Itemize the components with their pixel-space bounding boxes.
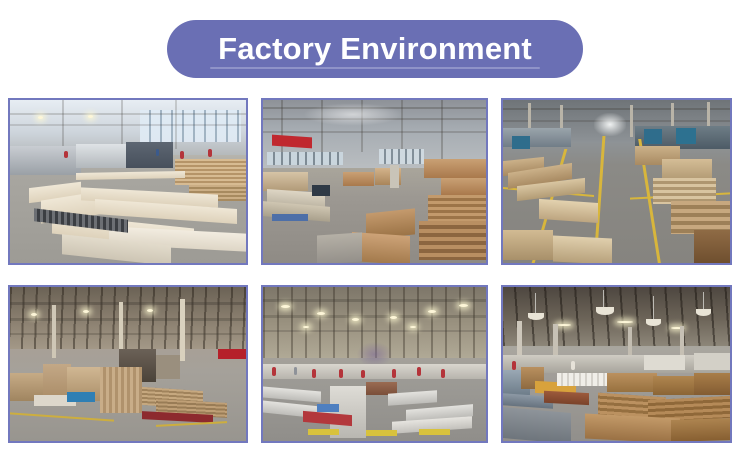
machine-unit bbox=[512, 136, 530, 149]
wood-panel-stack bbox=[441, 178, 486, 194]
pendant-lamp bbox=[696, 309, 711, 316]
far-doorway bbox=[594, 113, 626, 136]
page-title: Factory Environment bbox=[218, 33, 532, 64]
far-windows bbox=[267, 152, 343, 165]
bench-end-cap bbox=[366, 430, 397, 436]
grey-panel-stack bbox=[503, 407, 571, 441]
worker bbox=[512, 361, 516, 370]
roof-column bbox=[281, 100, 283, 159]
machine-unit bbox=[126, 142, 173, 168]
white-bundles bbox=[557, 373, 607, 385]
bench-end-cap bbox=[419, 429, 450, 435]
floor-debris bbox=[317, 232, 362, 263]
support-column bbox=[52, 305, 56, 357]
worker bbox=[156, 149, 159, 156]
machine-unit bbox=[694, 353, 730, 370]
wood-panel-stack bbox=[428, 195, 486, 221]
title-banner: Factory Environment bbox=[167, 20, 583, 78]
machine-unit bbox=[644, 355, 685, 370]
strip-light bbox=[317, 312, 325, 315]
worker bbox=[64, 151, 68, 158]
roof-beam bbox=[10, 318, 246, 321]
worker bbox=[571, 361, 575, 370]
worker bbox=[312, 369, 316, 378]
wood-panel-stack bbox=[424, 159, 486, 179]
skylight bbox=[303, 103, 403, 126]
roof-column bbox=[62, 100, 64, 149]
timber-crate bbox=[694, 230, 730, 263]
photo-4-scene bbox=[10, 287, 246, 441]
dust-pipe bbox=[390, 165, 399, 188]
photo-3-scene bbox=[503, 100, 730, 263]
machine-unit bbox=[76, 144, 128, 168]
blue-bin bbox=[67, 392, 95, 403]
worker bbox=[361, 370, 365, 378]
roof-beam bbox=[10, 333, 246, 335]
strip-light bbox=[617, 321, 633, 323]
gallery-photo-1[interactable] bbox=[8, 98, 248, 265]
door-board-stack bbox=[694, 373, 730, 395]
roof-beam bbox=[10, 124, 246, 126]
page-header: Factory Environment bbox=[0, 20, 750, 78]
gallery-photo-5[interactable] bbox=[261, 285, 488, 443]
roof-beam bbox=[263, 330, 486, 332]
photo-2-scene bbox=[263, 100, 486, 263]
support-column bbox=[180, 299, 185, 361]
hopper bbox=[156, 355, 180, 380]
lamp-wire bbox=[703, 292, 704, 310]
gallery-photo-3[interactable] bbox=[501, 98, 732, 265]
strip-light bbox=[410, 326, 416, 328]
red-brown-panel bbox=[544, 391, 589, 406]
machine-unit bbox=[676, 128, 696, 144]
support-column bbox=[630, 105, 633, 138]
roof-beam bbox=[263, 315, 486, 318]
ceiling-lamp bbox=[147, 309, 153, 312]
worker bbox=[392, 369, 396, 378]
ceiling-lamp bbox=[88, 115, 93, 118]
lamp-wire bbox=[653, 296, 654, 321]
roof-column bbox=[441, 100, 443, 159]
wall-sign bbox=[218, 349, 246, 360]
gallery-photo-2[interactable] bbox=[261, 98, 488, 265]
roof-beam bbox=[503, 108, 730, 110]
wood-panel-stack bbox=[419, 221, 486, 260]
wood-panel-stack bbox=[175, 159, 246, 185]
strip-light bbox=[557, 324, 571, 326]
open-crate bbox=[503, 230, 553, 259]
worker bbox=[339, 369, 343, 378]
roof-beam bbox=[263, 299, 486, 302]
worker bbox=[208, 149, 212, 157]
gallery-photo-4[interactable] bbox=[8, 285, 248, 443]
machine-unit bbox=[10, 146, 81, 175]
title-underline bbox=[210, 67, 540, 69]
timber-plank-stack bbox=[539, 199, 598, 223]
bench-end-cap bbox=[308, 429, 339, 435]
photo-6-scene bbox=[503, 287, 730, 441]
strip-light bbox=[459, 304, 468, 307]
door-board-stack bbox=[607, 373, 657, 391]
lamp-wire bbox=[603, 290, 604, 308]
door-board-stack bbox=[585, 414, 680, 441]
work-bench bbox=[263, 386, 321, 402]
roof-column bbox=[175, 100, 177, 149]
timber-plank-stack bbox=[553, 235, 612, 263]
door-slab bbox=[76, 171, 185, 179]
floor-marking bbox=[156, 421, 227, 427]
blue-strap bbox=[272, 214, 308, 221]
strip-light bbox=[352, 318, 359, 321]
far-windows bbox=[379, 149, 424, 164]
floor-marking bbox=[10, 413, 114, 422]
roof-beam bbox=[263, 131, 486, 133]
strip-light bbox=[303, 326, 309, 328]
roof-column bbox=[121, 100, 123, 149]
board-stack-tall bbox=[100, 367, 142, 413]
work-bench bbox=[388, 390, 437, 406]
pendant-lamp bbox=[596, 307, 614, 315]
roof-beam bbox=[10, 113, 246, 115]
timber-crate bbox=[671, 201, 730, 234]
lamp-wire bbox=[535, 293, 536, 315]
worker bbox=[417, 367, 421, 376]
worker bbox=[180, 151, 184, 159]
worker bbox=[272, 367, 276, 376]
worker bbox=[294, 367, 297, 375]
photo-1-scene bbox=[10, 100, 246, 263]
photo-5-scene bbox=[263, 287, 486, 441]
blue-item bbox=[317, 404, 339, 412]
gallery-photo-6[interactable] bbox=[501, 285, 732, 443]
door-board-stack bbox=[671, 418, 730, 441]
roof-beam bbox=[10, 302, 246, 305]
factory-photo-gallery bbox=[8, 98, 734, 443]
machine-unit bbox=[644, 129, 662, 144]
door-blank bbox=[343, 172, 374, 187]
machine-unit bbox=[312, 185, 330, 196]
worker bbox=[441, 369, 445, 378]
